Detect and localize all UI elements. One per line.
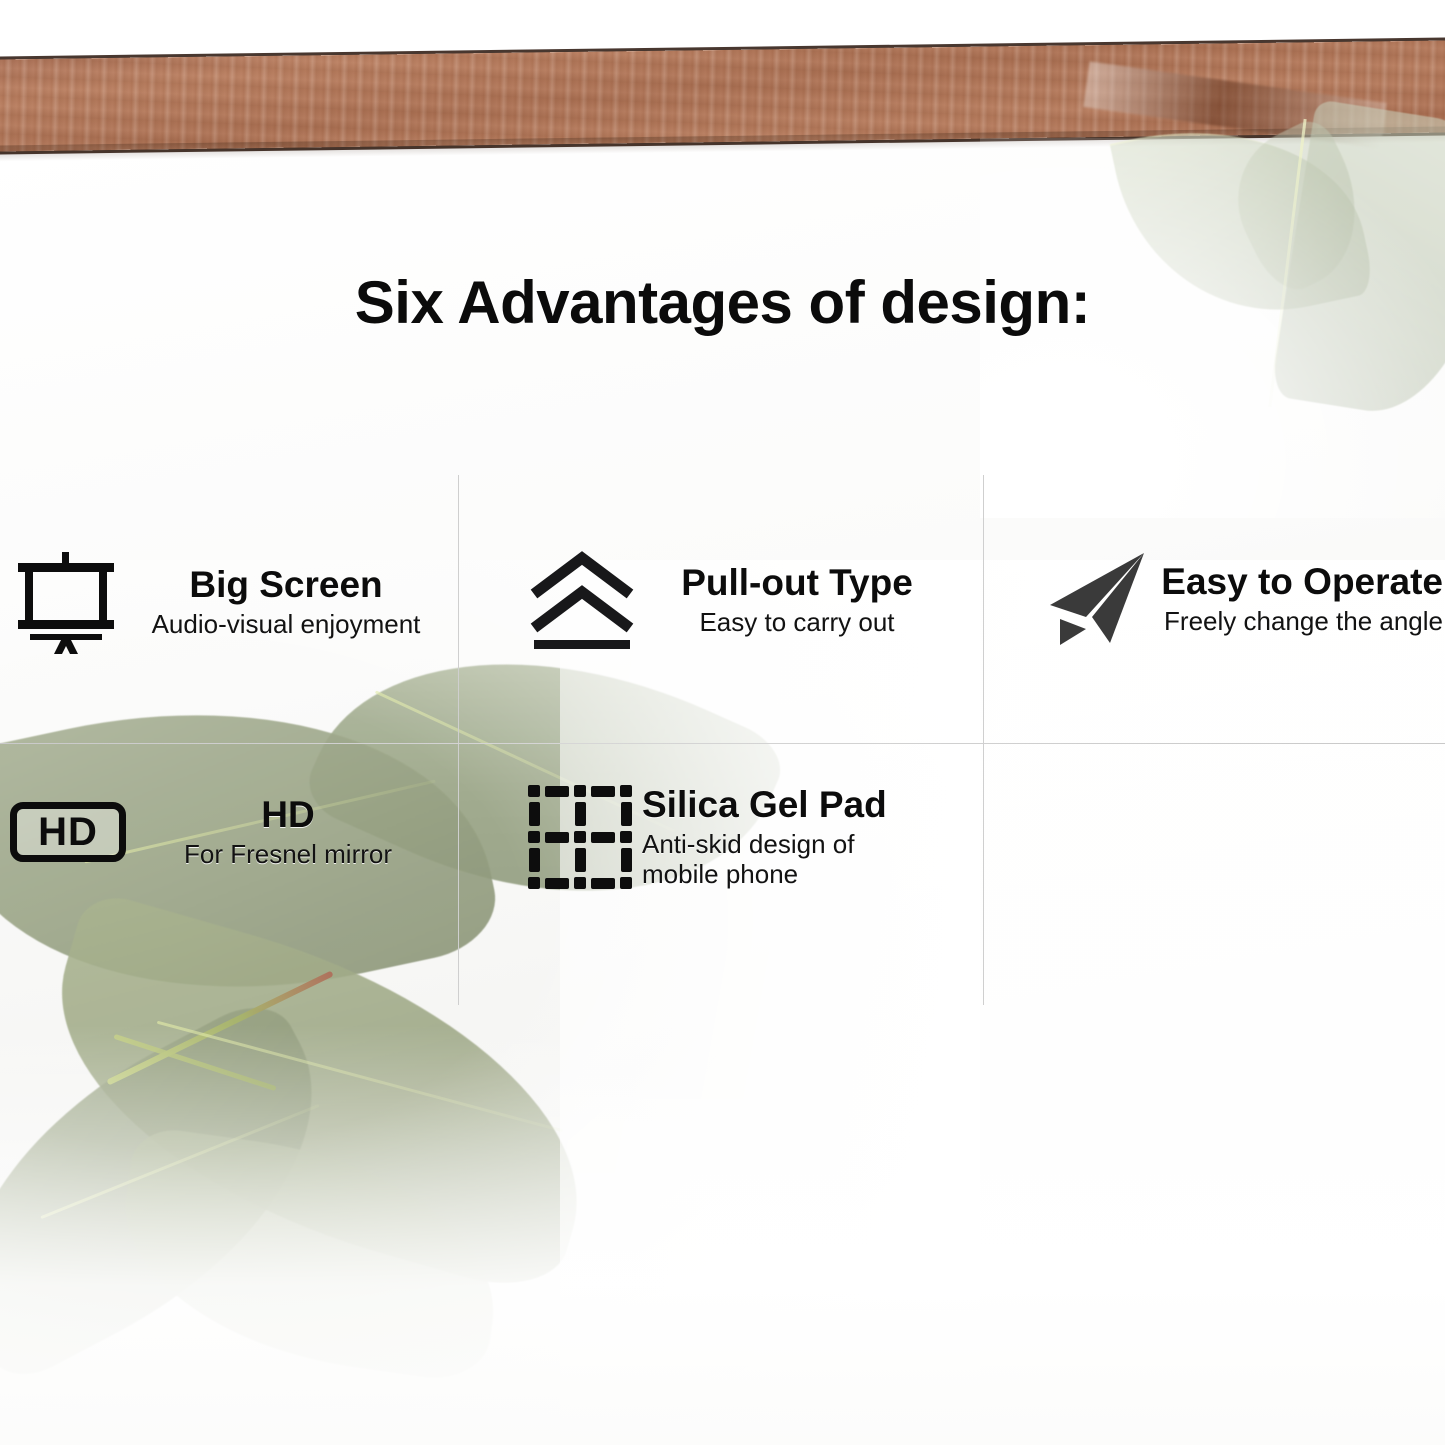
feature-subtitle: For Fresnel mirror [126, 839, 450, 869]
feature-cell-pull-out-type: Pull-out Type Easy to carry out [528, 550, 958, 650]
hd-badge-icon: HD [10, 802, 126, 862]
feature-grid: Big Screen Audio-visual enjoyment Pull-o… [0, 475, 1445, 1005]
product-infographic: Six Advantages of design: [0, 0, 1445, 1445]
projector-screen-icon [10, 550, 122, 654]
feature-subtitle: Freely change the angle [1152, 606, 1443, 636]
double-chevron-up-icon [528, 550, 636, 650]
hd-badge-label: HD [10, 802, 126, 862]
feature-title: Big Screen [122, 565, 450, 604]
feature-subtitle-line2: mobile phone [642, 859, 798, 889]
feature-subtitle: Anti-skid design of mobile phone [642, 829, 958, 889]
feature-cell-big-screen: Big Screen Audio-visual enjoyment [10, 550, 450, 654]
feature-subtitle: Audio-visual enjoyment [122, 609, 450, 639]
feature-text-hd: HD For Fresnel mirror [126, 795, 450, 869]
feature-subtitle: Easy to carry out [636, 607, 958, 637]
dashed-grid-pattern [528, 785, 632, 889]
page-title: Six Advantages of design: [0, 268, 1445, 337]
feature-text-easy-to-operate: Easy to Operate Freely change the angle [1152, 562, 1445, 636]
feature-title: Pull-out Type [636, 563, 958, 602]
feature-text-silica-gel-pad: Silica Gel Pad Anti-skid design of mobil… [632, 785, 958, 890]
paper-plane-icon [1040, 547, 1152, 651]
feature-title: Silica Gel Pad [642, 785, 958, 824]
feature-cell-hd: HD HD For Fresnel mirror [10, 795, 450, 869]
feature-text-pull-out-type: Pull-out Type Easy to carry out [636, 563, 958, 637]
feature-title: HD [126, 795, 450, 834]
feature-cell-silica-gel-pad: Silica Gel Pad Anti-skid design of mobil… [528, 785, 958, 890]
feature-title: Easy to Operate [1152, 562, 1443, 601]
feature-subtitle-line1: Anti-skid design of [642, 829, 854, 859]
dashed-grid-icon [528, 785, 632, 889]
feature-text-big-screen: Big Screen Audio-visual enjoyment [122, 565, 450, 639]
feature-cell-easy-to-operate: Easy to Operate Freely change the angle [1040, 547, 1445, 651]
